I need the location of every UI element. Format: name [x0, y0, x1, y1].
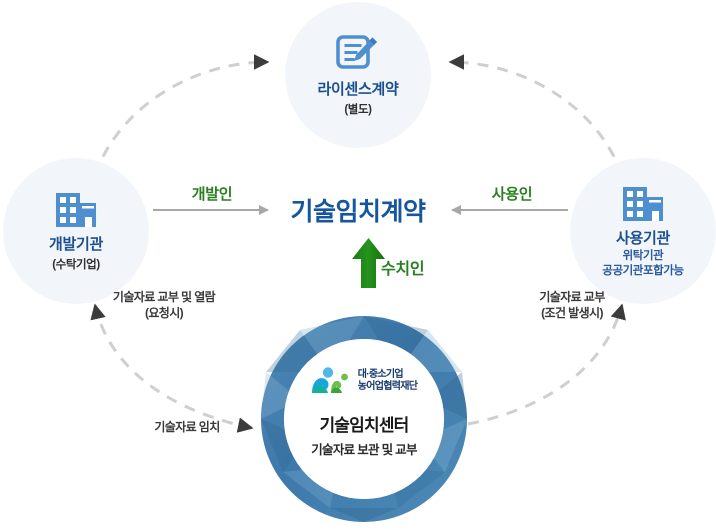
dashed-curve-developer-to-license — [95, 62, 268, 175]
center-contract-title: 기술임치계약 — [258, 192, 458, 228]
flow-label-deposit: 수치인 — [381, 255, 424, 279]
node-developer-org[interactable]: 개발기관 (수탁기업) — [3, 158, 149, 304]
foundation-name-line2: 농어업협력재단 — [358, 381, 418, 394]
caption-deposit-materials: 기술자료 임치 — [122, 419, 252, 435]
node-user-sub-line1: 위탁기관 — [623, 249, 664, 263]
caption-provide-on-condition: 기술자료 교부 (조건 발생시) — [492, 289, 652, 321]
building-icon — [54, 190, 98, 230]
escrow-center-inner: 대·중소기업 농어업협력재단 기술임치센터 기술자료 보관 및 교부 — [284, 339, 444, 499]
document-pencil-icon — [336, 33, 380, 75]
dashed-curve-developer-center — [95, 305, 252, 428]
node-user-title: 사용기관 — [616, 230, 670, 247]
foundation-name: 대·중소기업 농어업협력재단 — [358, 369, 418, 394]
escrow-center-name: 기술임치센터 — [319, 411, 408, 436]
flow-label-developer: 개발인 — [152, 183, 272, 204]
node-license-contract[interactable]: 라이센스계약 (별도) — [285, 2, 431, 148]
caption-provide-on-condition-line2: (조건 발생시) — [492, 305, 652, 321]
foundation-mark-icon — [311, 366, 353, 396]
node-escrow-center[interactable]: 대·중소기업 농어업협력재단 기술임치센터 기술자료 보관 및 교부 — [258, 313, 470, 525]
dashed-curve-center-to-user — [468, 305, 622, 424]
node-developer-title: 개발기관 — [49, 236, 103, 253]
building-icon — [621, 184, 665, 224]
caption-provide-and-view: 기술자료 교부 및 열람 (요청시) — [78, 289, 250, 321]
node-user-org[interactable]: 사용기관 위탁기관 공공기관포합가능 — [570, 158, 716, 304]
node-user-sub-line2: 공공기관포합가능 — [602, 264, 683, 278]
caption-provide-and-view-line1: 기술자료 교부 및 열람 — [78, 289, 250, 305]
node-developer-sub: (수탁기업) — [52, 256, 100, 272]
flow-label-user: 사용인 — [452, 183, 572, 204]
caption-provide-on-condition-line1: 기술자료 교부 — [492, 289, 652, 305]
node-license-sub: (별도) — [344, 101, 371, 117]
escrow-center-desc: 기술자료 보관 및 교부 — [311, 439, 417, 458]
foundation-logo: 대·중소기업 농어업협력재단 — [311, 366, 418, 396]
dashed-curve-user-to-license — [450, 62, 622, 175]
foundation-name-line1: 대·중소기업 — [358, 369, 418, 382]
caption-provide-and-view-line2: (요청시) — [78, 305, 250, 321]
diagram-canvas: 라이센스계약 (별도) 개발기관 (수탁기업) — [0, 0, 716, 530]
node-license-title: 라이센스계약 — [317, 81, 398, 98]
